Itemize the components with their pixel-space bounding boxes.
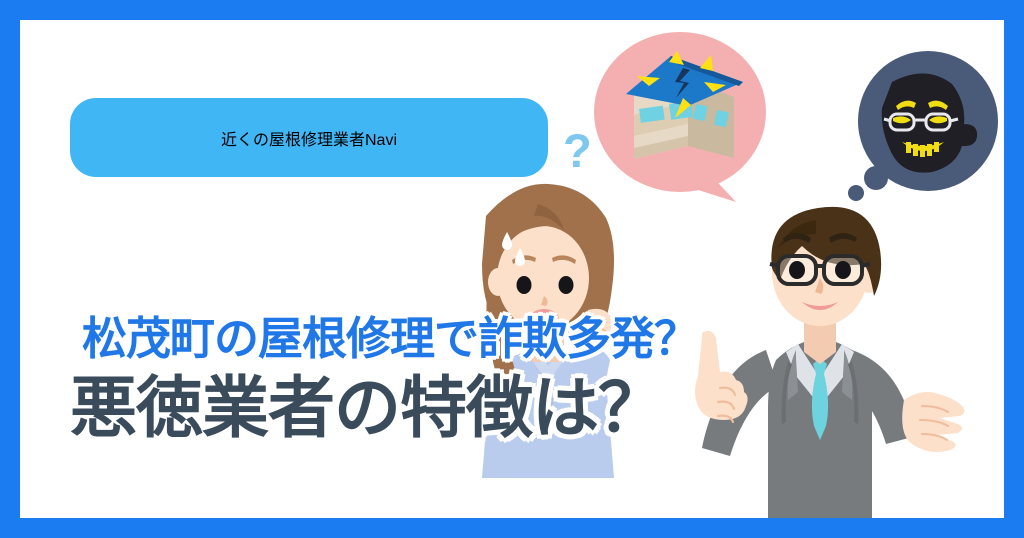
question-mark-decoration: ? [563,127,592,174]
headline-subtitle: 松茂町の屋根修理で詐欺多発？ [82,316,698,361]
poster-inner-panel: 近くの屋根修理業者Navi ? 松茂町の屋根修理で詐欺多発？ 悪徳業者の特徴は？ [20,20,1004,518]
site-badge-label: 近くの屋根修理業者Navi [221,126,397,150]
headline-title: 悪徳業者の特徴は？ [70,375,664,442]
poster-canvas: 近くの屋根修理業者Navi ? 松茂町の屋根修理で詐欺多発？ 悪徳業者の特徴は？ [0,0,1024,538]
suited-man-illustration [695,207,965,518]
site-badge[interactable]: 近くの屋根修理業者Navi [70,98,548,177]
